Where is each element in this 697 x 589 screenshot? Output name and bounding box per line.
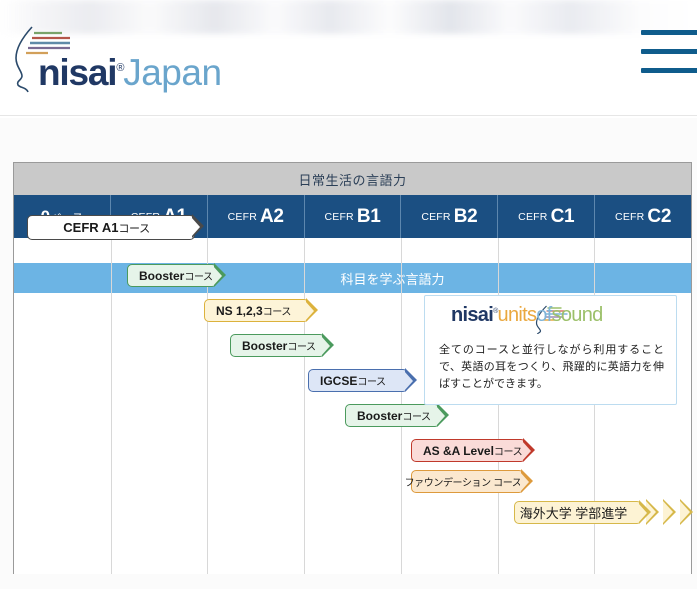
cefr-prefix: CEFR [421, 211, 450, 223]
cefr-level: B1 [357, 206, 381, 228]
grid-column-divider [111, 238, 112, 574]
course-chip-title: IGCSE [320, 374, 357, 388]
cefr-column-header: CEFRC1 [498, 195, 595, 238]
cefr-level: B2 [454, 206, 478, 228]
units-of-sound-wordmark: nisai®unitsofsound [451, 305, 603, 325]
course-chip-ns-123[interactable]: NS 1,2,3 コース [204, 299, 309, 322]
cefr-prefix: CEFR [324, 211, 353, 223]
course-chip-title: NS 1,2,3 [216, 304, 263, 318]
course-chip-booster-3[interactable]: Boosterコース [345, 404, 440, 427]
course-chip-subtitle: 海外大学 学部進学 [520, 503, 628, 522]
grid-column-divider [304, 238, 305, 574]
progression-chevron [680, 499, 693, 525]
grid-column-divider [498, 238, 499, 574]
uos-sound-text: sound [552, 304, 603, 326]
hamburger-bar [641, 49, 697, 54]
cefr-prefix: CEFR [518, 211, 547, 223]
course-chip-title: Booster [242, 339, 287, 353]
grid-column-divider [207, 238, 208, 574]
course-chip-as-a-level[interactable]: AS &A Level コース [411, 439, 526, 462]
progression-chevron [663, 499, 676, 525]
cefr-column-header: CEFRB2 [401, 195, 498, 238]
academic-language-band: 科目を学ぶ言語力 [14, 263, 691, 293]
course-chip-booster-2[interactable]: Boosterコース [230, 334, 325, 357]
cefr-level: C2 [647, 206, 671, 228]
course-chip-subtitle: コース [494, 443, 522, 458]
header-divider [0, 115, 697, 116]
course-chip-title: AS &A Level [423, 444, 494, 458]
cefr-prefix: CEFR [228, 211, 257, 223]
logo-wordmark: nisai®Japan [38, 54, 222, 91]
course-chip-booster-1[interactable]: Boosterコース [127, 264, 217, 287]
course-chip-subtitle: コース [287, 338, 315, 353]
course-chip-foundation[interactable]: ファウンデーション コース [411, 470, 524, 493]
progression-chevron-inner [663, 501, 673, 523]
course-chip-subtitle: コース [402, 408, 430, 423]
hamburger-bar [641, 30, 697, 35]
cefr-prefix: CEFR [615, 211, 644, 223]
cefr-column-header: CEFRB1 [305, 195, 402, 238]
cefr-column-header: CEFRC2 [595, 195, 691, 238]
course-chip-subtitle: コース [184, 268, 212, 283]
hamburger-bar [641, 68, 697, 73]
course-chip-subtitle: ファウンデーション コース [405, 474, 522, 489]
course-chip-subtitle: コース [263, 303, 291, 318]
progression-chevrons [646, 501, 697, 524]
hamburger-menu-icon[interactable] [641, 30, 697, 78]
logo-brand-text: nisai [38, 52, 116, 93]
cefr-level: C1 [551, 206, 575, 228]
logo-suffix-text: Japan [123, 52, 221, 93]
course-chip-igcse[interactable]: IGCSE コース [308, 369, 408, 392]
course-chip-subtitle: コース [357, 373, 385, 388]
nisai-japan-logo[interactable]: nisai®Japan [10, 24, 260, 96]
course-chip-title: CEFR A1 [63, 220, 118, 235]
uos-of-text: of [536, 304, 551, 326]
uos-brand-text: nisai [451, 304, 493, 326]
course-chip-title: Booster [357, 409, 402, 423]
course-chip-subtitle: コース [118, 220, 149, 236]
course-chip-overseas-uni[interactable]: 海外大学 学部進学 [514, 501, 642, 524]
course-chip-cefr-a1-course[interactable]: CEFR A1コース [27, 215, 195, 240]
cefr-column-header: CEFRA2 [208, 195, 305, 238]
cefr-level: A2 [260, 206, 284, 228]
everyday-language-band: 日常生活の言語力 [14, 163, 691, 195]
units-of-sound-description: 全てのコースと並行しながら利用することで、英語の耳をつくり、飛躍的に英語力を伸ば… [439, 342, 664, 393]
units-of-sound-infobox: nisai®unitsofsound 全てのコースと並行しながら利用することで、… [424, 295, 677, 405]
site-header: nisai®Japan [0, 0, 697, 118]
progression-chevron-inner [680, 501, 690, 523]
chart-grid-area: 科目を学ぶ言語力 CEFR A1コースBoosterコースNS 1,2,3 コー… [14, 238, 691, 574]
course-chip-title: Booster [139, 269, 184, 283]
uos-units-text: units [498, 304, 537, 326]
